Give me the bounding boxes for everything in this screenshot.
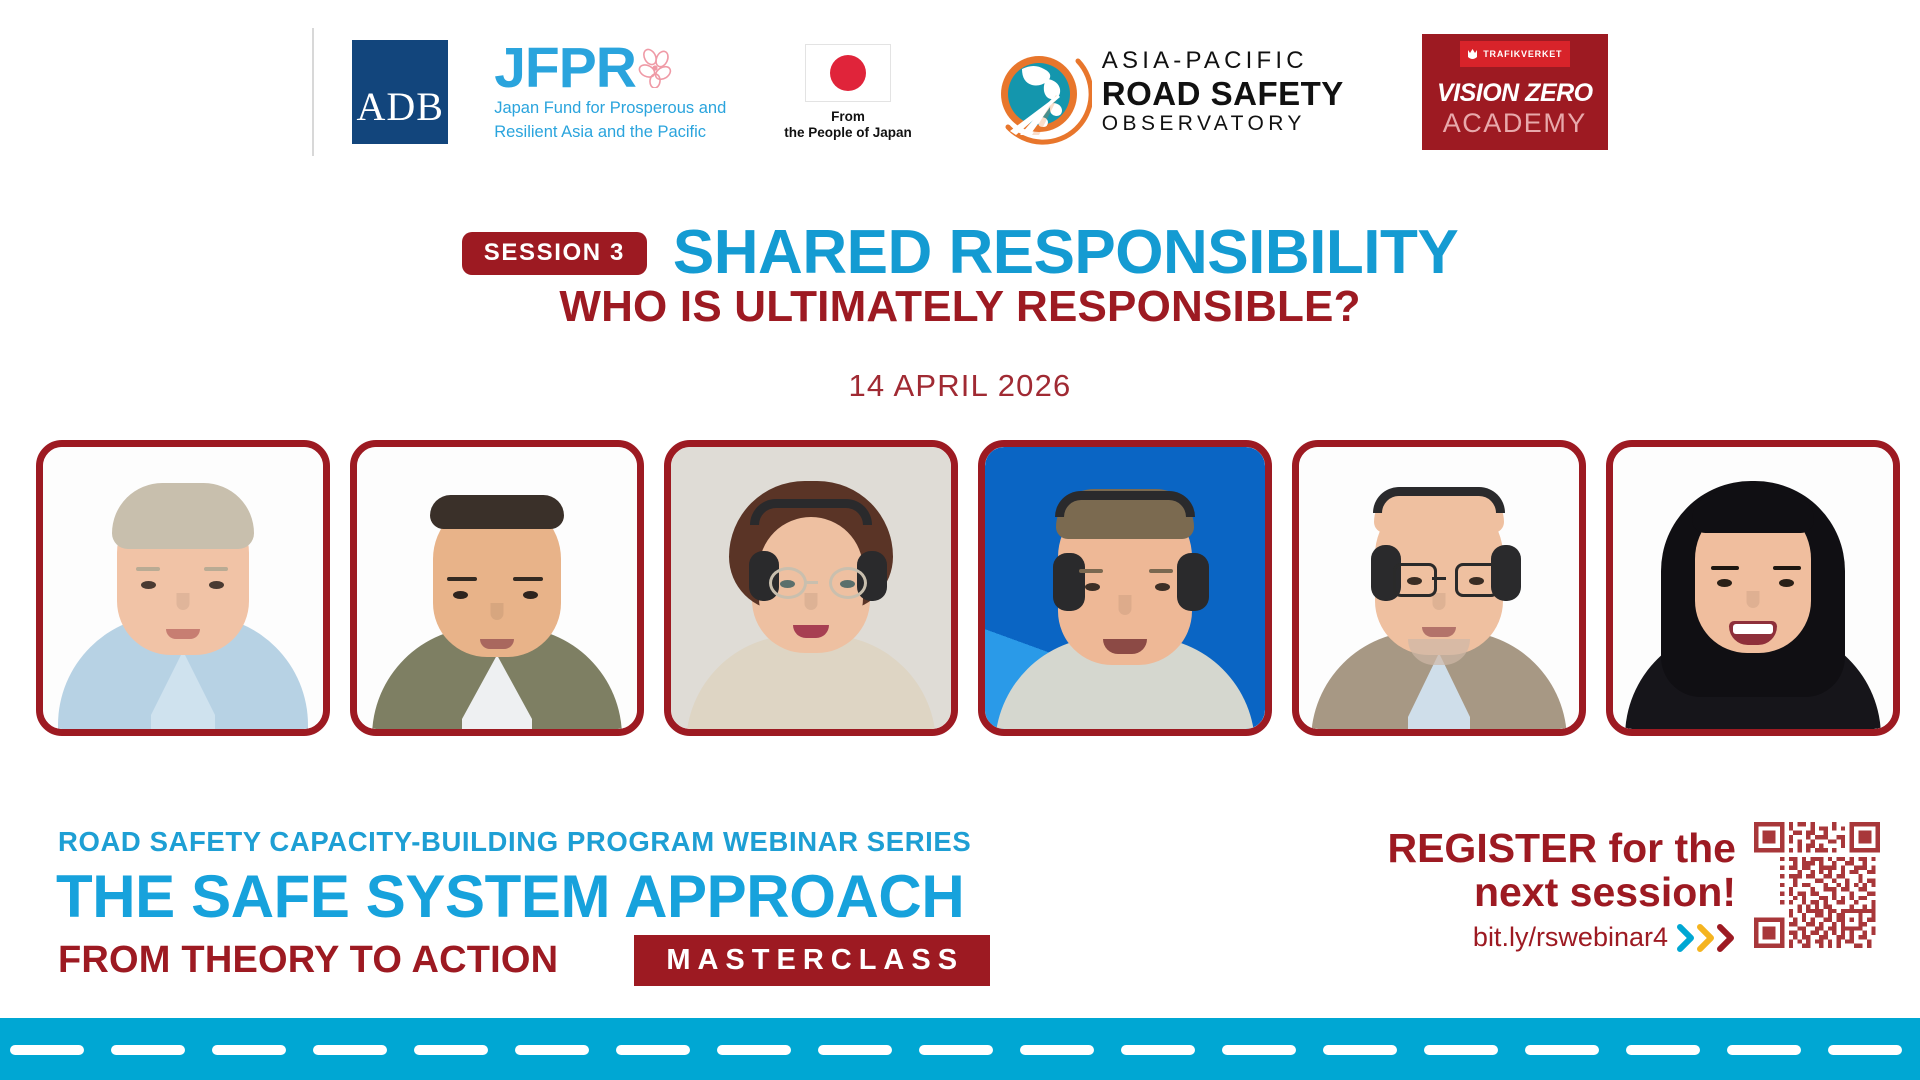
participant-tile-5[interactable]	[1292, 440, 1586, 736]
adb-logo-box: ADB	[352, 40, 448, 144]
vision-zero-academy-logo: TRAFIKVERKET VISION ZERO ACADEMY	[1422, 34, 1608, 150]
vision-zero-line-1: VISION ZERO	[1437, 81, 1593, 106]
register-line-2: next session!	[1474, 870, 1736, 916]
adb-logo: ADB	[352, 40, 448, 144]
sakura-blossom-icon	[638, 48, 672, 88]
aprso-line-1: ASIA-PACIFIC	[1102, 47, 1344, 75]
globe-road-icon	[986, 39, 1092, 145]
japan-caption-line-2: the People of Japan	[784, 125, 912, 141]
road-dash	[818, 1045, 892, 1055]
japan-flag-icon	[805, 44, 891, 102]
participant-video-5	[1299, 447, 1579, 729]
road-dash	[10, 1045, 84, 1055]
road-dash	[313, 1045, 387, 1055]
session-badge: SESSION 3	[462, 232, 647, 275]
japan-caption: From the People of Japan	[784, 109, 912, 141]
title-row: SESSION 3 SHARED RESPONSIBILITY	[0, 222, 1920, 284]
aprso-line-3: OBSERVATORY	[1102, 111, 1344, 136]
japan-flag-logo: From the People of Japan	[784, 44, 912, 141]
register-block[interactable]: REGISTER for the next session! bit.ly/rs…	[1387, 822, 1880, 953]
event-date: 14 APRIL 2026	[0, 368, 1920, 404]
road-dash	[1323, 1045, 1397, 1055]
road-dash	[1424, 1045, 1498, 1055]
road-dash	[919, 1045, 993, 1055]
road-dash	[414, 1045, 488, 1055]
logo-divider	[312, 28, 314, 156]
participant-grid	[36, 440, 1920, 736]
series-subtitle-row: FROM THEORY TO ACTION MASTERCLASS	[58, 935, 990, 986]
road-dash	[111, 1045, 185, 1055]
series-kicker: ROAD SAFETY CAPACITY-BUILDING PROGRAM WE…	[58, 826, 971, 858]
road-dash	[515, 1045, 589, 1055]
participant-video-4	[985, 447, 1265, 729]
chevron-right-icon-3	[1717, 924, 1736, 952]
aprso-wordmark: ASIA-PACIFIC ROAD SAFETY OBSERVATORY	[1102, 47, 1344, 136]
japan-caption-line-1: From	[784, 109, 912, 125]
register-link-row[interactable]: bit.ly/rswebinar4	[1473, 922, 1736, 953]
participant-tile-3[interactable]	[664, 440, 958, 736]
participant-video-3	[671, 447, 951, 729]
chevron-right-icon-2	[1697, 924, 1716, 952]
road-dash	[1828, 1045, 1902, 1055]
trafikverket-chip: TRAFIKVERKET	[1460, 41, 1570, 67]
road-dash	[1020, 1045, 1094, 1055]
jfpr-logo: JFPR Japan Fund for Prosperous and Resil…	[494, 42, 726, 143]
road-dash	[1626, 1045, 1700, 1055]
road-dash	[616, 1045, 690, 1055]
series-subtitle: FROM THEORY TO ACTION	[58, 939, 558, 982]
road-dash-row	[0, 1045, 1920, 1055]
masterclass-badge: MASTERCLASS	[634, 935, 990, 986]
register-link[interactable]: bit.ly/rswebinar4	[1473, 922, 1668, 953]
road-stripe	[0, 1018, 1920, 1080]
vision-zero-line-2: ACADEMY	[1443, 110, 1587, 137]
participant-tile-2[interactable]	[350, 440, 644, 736]
participant-tile-4[interactable]	[978, 440, 1272, 736]
participant-video-6	[1613, 447, 1893, 729]
page-title: SHARED RESPONSIBILITY	[673, 222, 1458, 284]
participant-video-2	[357, 447, 637, 729]
road-dash	[212, 1045, 286, 1055]
asia-pacific-road-safety-observatory-logo: ASIA-PACIFIC ROAD SAFETY OBSERVATORY	[986, 39, 1344, 145]
chevron-right-icon-1	[1677, 924, 1696, 952]
road-dash	[1222, 1045, 1296, 1055]
participant-tile-6[interactable]	[1606, 440, 1900, 736]
participant-video-1	[43, 447, 323, 729]
road-dash	[1121, 1045, 1195, 1055]
japan-flag-sun	[830, 55, 866, 91]
qr-code[interactable]	[1754, 822, 1880, 948]
register-line-1: REGISTER for the	[1387, 826, 1736, 870]
jfpr-subtitle-line-2: Resilient Asia and the Pacific	[494, 123, 706, 142]
participant-tile-1[interactable]	[36, 440, 330, 736]
webinar-promo-slide: ADB JFPR Japan Fund for Prosperou	[0, 0, 1920, 1080]
road-dash	[1525, 1045, 1599, 1055]
series-title: THE SAFE SYSTEM APPROACH	[56, 862, 964, 931]
jfpr-subtitle-line-1: Japan Fund for Prosperous and	[494, 99, 726, 118]
page-subtitle: WHO IS ULTIMATELY RESPONSIBLE?	[0, 282, 1920, 332]
jfpr-acronym: JFPR	[494, 42, 636, 96]
register-text: REGISTER for the next session! bit.ly/rs…	[1387, 822, 1736, 953]
aprso-line-2: ROAD SAFETY	[1102, 76, 1344, 112]
road-dash	[717, 1045, 791, 1055]
adb-logo-text: ADB	[356, 87, 443, 144]
trafikverket-label: TRAFIKVERKET	[1483, 49, 1562, 59]
chevron-group	[1677, 924, 1736, 952]
jfpr-acronym-row: JFPR	[494, 42, 672, 96]
logo-bar: ADB JFPR Japan Fund for Prosperou	[0, 22, 1920, 162]
road-dash	[1727, 1045, 1801, 1055]
trafikverket-crown-icon	[1467, 48, 1478, 61]
